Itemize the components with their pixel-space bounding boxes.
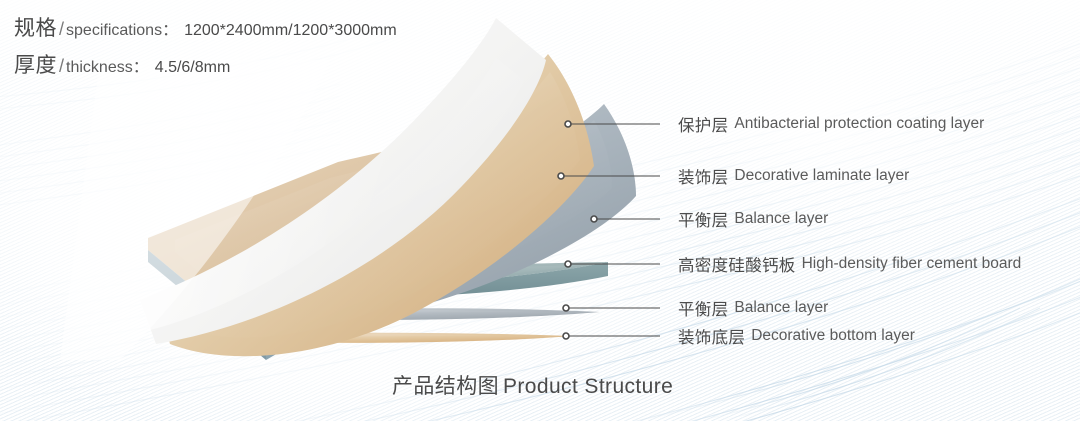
- callout-label-4: 高密度硅酸钙板High-density fiber cement board: [678, 252, 1021, 276]
- spec-thickness-value: 4.5/6/8mm: [149, 59, 231, 77]
- product-structure-diagram: 规格 / specifications： 1200*2400mm/1200*30…: [0, 0, 1080, 421]
- spec-size-value: 1200*2400mm/1200*3000mm: [178, 22, 397, 40]
- spec-thickness-label-cn: 厚度: [14, 49, 57, 79]
- callout-label-3: 平衡层Balance layer: [678, 207, 828, 231]
- callout-label-5: 平衡层Balance layer: [678, 296, 828, 320]
- spec-size-label-en: specifications：: [66, 16, 178, 40]
- callout-label-cn: 装饰底层: [678, 324, 745, 348]
- callout-label-1: 保护层Antibacterial protection coating laye…: [678, 112, 984, 136]
- spec-size-separator: /: [57, 19, 66, 40]
- callout-label-en: High-density fiber cement board: [796, 255, 1022, 273]
- specifications-block: 规格 / specifications： 1200*2400mm/1200*30…: [14, 12, 397, 86]
- callout-label-cn: 平衡层: [678, 296, 728, 320]
- callout-label-en: Decorative bottom layer: [745, 327, 915, 345]
- diagram-caption: 产品结构图Product Structure: [392, 370, 673, 400]
- callout-label-en: Balance layer: [728, 210, 828, 228]
- callout-label-en: Balance layer: [728, 299, 828, 317]
- spec-row-size: 规格 / specifications： 1200*2400mm/1200*30…: [14, 12, 397, 42]
- caption-cn: 产品结构图: [392, 375, 499, 398]
- callout-label-en: Decorative laminate layer: [728, 167, 909, 185]
- spec-thickness-label-en: thickness：: [66, 53, 149, 77]
- callout-label-cn: 平衡层: [678, 207, 728, 231]
- spec-row-thickness: 厚度 / thickness： 4.5/6/8mm: [14, 49, 397, 79]
- spec-size-label-cn: 规格: [14, 12, 57, 42]
- callout-label-cn: 装饰层: [678, 164, 728, 188]
- spec-thickness-separator: /: [57, 56, 66, 77]
- callout-label-cn: 保护层: [678, 112, 728, 136]
- callout-label-en: Antibacterial protection coating layer: [728, 115, 984, 133]
- callout-label-6: 装饰底层Decorative bottom layer: [678, 324, 915, 348]
- callout-label-cn: 高密度硅酸钙板: [678, 252, 796, 276]
- callout-label-2: 装饰层Decorative laminate layer: [678, 164, 909, 188]
- caption-en: Product Structure: [499, 375, 673, 398]
